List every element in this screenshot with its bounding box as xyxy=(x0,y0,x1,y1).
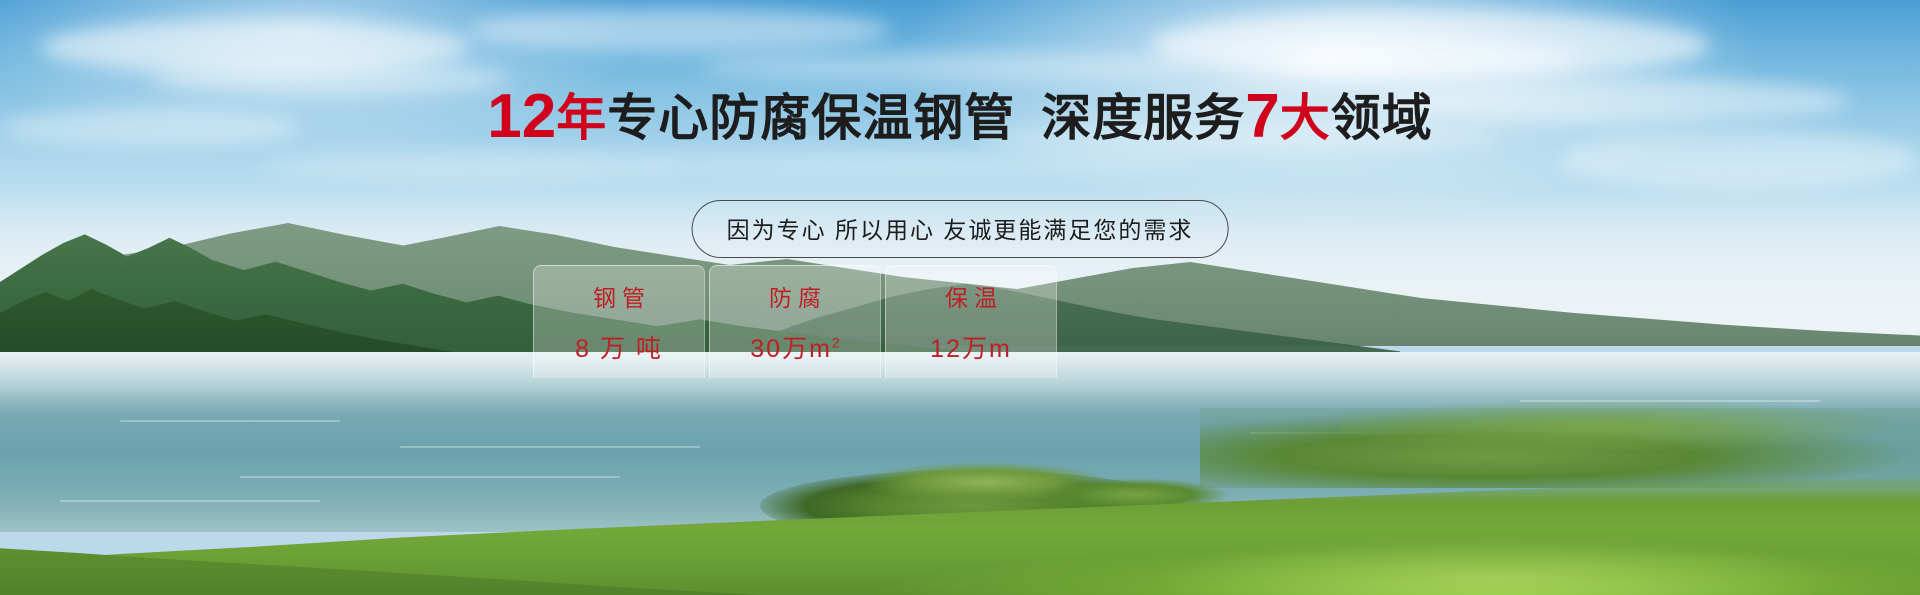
stat-card: 防腐 30万m2 xyxy=(709,265,881,378)
cloud-shape xyxy=(640,150,1200,176)
promo-banner: 12年专心防腐保温钢管深度服务7大领域 因为专心 所以用心 友诚更能满足您的需求… xyxy=(0,0,1920,595)
stat-card-label: 保温 xyxy=(939,279,1003,313)
stat-card-value-text: 30万m xyxy=(750,335,832,363)
cloud-shape xyxy=(260,150,680,180)
right-shore-grass-light xyxy=(1340,396,1920,450)
water-ripple xyxy=(60,500,320,502)
stat-card-value-text: 12万m xyxy=(930,335,1012,363)
stat-card-value: 8 万 吨 xyxy=(575,329,663,365)
stat-card-value-superscript: 2 xyxy=(832,335,840,351)
water-ripple xyxy=(240,476,620,478)
stat-card: 保温 12万m xyxy=(885,265,1057,378)
headline-main-text: 专心防腐保温钢管 xyxy=(607,90,1015,146)
subtitle-pill: 因为专心 所以用心 友诚更能满足您的需求 xyxy=(692,200,1229,258)
stat-card-value-text: 8 万 吨 xyxy=(575,335,663,363)
headline-service-text: 深度服务 xyxy=(1041,90,1245,146)
headline-years-number: 12 xyxy=(487,82,556,151)
headline: 12年专心防腐保温钢管深度服务7大领域 xyxy=(0,86,1920,148)
cloud-shape xyxy=(470,8,890,52)
stat-card-label: 防腐 xyxy=(763,279,827,313)
headline-seven-number: 7 xyxy=(1245,82,1279,151)
stat-card-group: 钢管 8 万 吨 防腐 30万m2 保温 12万m xyxy=(533,265,1057,378)
cloud-shape xyxy=(700,52,1200,82)
stat-card: 钢管 8 万 吨 xyxy=(533,265,705,378)
headline-seven-unit: 大 xyxy=(1280,90,1331,146)
stat-card-value: 30万m2 xyxy=(750,329,839,365)
headline-years-unit: 年 xyxy=(556,90,607,146)
stat-card-label: 钢管 xyxy=(587,279,651,313)
water-ripple xyxy=(400,446,700,448)
grass-highlight xyxy=(980,487,1920,595)
water-ripple xyxy=(120,420,340,422)
headline-fields-text: 领域 xyxy=(1331,90,1433,146)
cloud-shape xyxy=(1280,40,1580,76)
stat-card-value: 12万m xyxy=(930,329,1012,365)
